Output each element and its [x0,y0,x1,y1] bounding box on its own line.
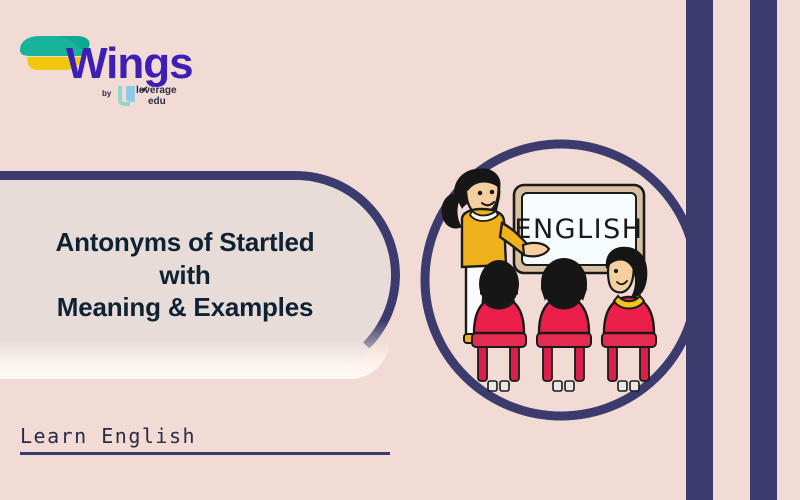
footer-label: Learn English [20,424,390,452]
logo-byline-prefix: by [102,89,112,98]
decor-bar-2 [750,0,777,500]
title-panel: Antonyms of Startled with Meaning & Exam… [0,171,400,379]
student-row [472,247,656,391]
teacher-eye-left [478,191,483,196]
footer-category: Learn English [20,424,390,455]
decor-bar-1 [686,0,713,500]
student-3 [602,247,656,391]
page-title-line-1: Antonyms of Startled [56,227,315,258]
banner-canvas: Wings by leverage edu Antonyms of Startl… [0,0,800,500]
whiteboard-text: ENGLISH [514,214,643,245]
student-2 [537,258,591,391]
logo-byline-brand-2: edu [148,96,166,106]
page-title: Antonyms of Startled with Meaning & Exam… [0,171,370,379]
footer-divider [20,452,390,455]
page-title-line-2: with [159,260,210,291]
logo-byline-brand-1: leverage [136,85,177,96]
student-1 [472,260,526,391]
teacher-hand [523,243,549,256]
teacher-eye-right [490,190,495,195]
wings-logo: Wings by leverage edu [14,16,194,106]
teacher-ponytail [442,193,462,229]
classroom-illustration: ENGLISH [418,137,704,423]
logo-wordmark: Wings [66,39,193,88]
page-title-line-3: Meaning & Examples [57,292,313,323]
